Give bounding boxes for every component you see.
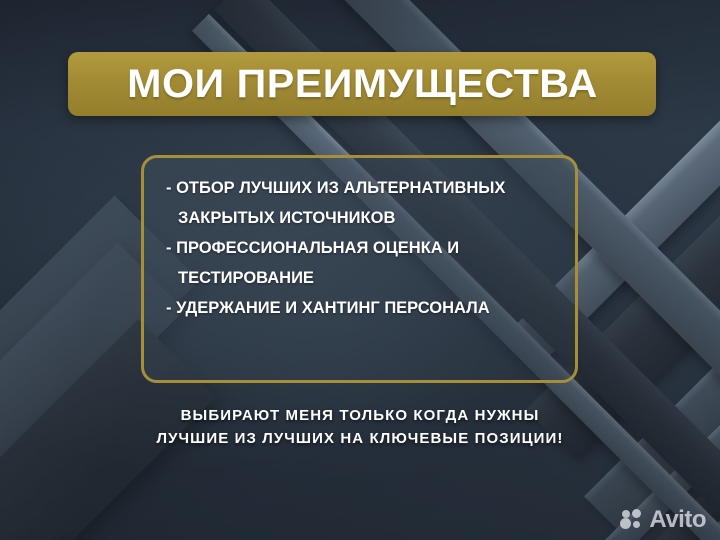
list-item: - ПРОФЕССИОНАЛЬНАЯ ОЦЕНКА И ТЕСТИРОВАНИЕ [166, 240, 557, 286]
tagline: ВЫБИРАЮТ МЕНЯ ТОЛЬКО КОГДА НУЖНЫ ЛУЧШИЕ … [0, 404, 720, 451]
list-item-line1: - ПРОФЕССИОНАЛЬНАЯ ОЦЕНКА И [166, 239, 459, 257]
tagline-line2: ЛУЧШИЕ ИЗ ЛУЧШИХ НА КЛЮЧЕВЫЕ ПОЗИЦИИ! [0, 427, 720, 450]
list-item: - ОТБОР ЛУЧШИХ ИЗ АЛЬТЕРНАТИВНЫХ ЗАКРЫТЫ… [166, 180, 557, 226]
list-item-line2: ЗАКРЫТЫХ ИСТОЧНИКОВ [166, 210, 557, 227]
advantages-list: - ОТБОР ЛУЧШИХ ИЗ АЛЬТЕРНАТИВНЫХ ЗАКРЫТЫ… [166, 180, 557, 317]
tagline-line1: ВЫБИРАЮТ МЕНЯ ТОЛЬКО КОГДА НУЖНЫ [0, 404, 720, 427]
avito-wordmark: Avito [649, 508, 706, 532]
list-item-line1: - УДЕРЖАНИЕ И ХАНТИНГ ПЕРСОНАЛА [166, 299, 490, 317]
list-item-line2: ТЕСТИРОВАНИЕ [166, 270, 557, 287]
poster-canvas: МОИ ПРЕИМУЩЕСТВА - ОТБОР ЛУЧШИХ ИЗ АЛЬТЕ… [0, 0, 720, 540]
title-banner: МОИ ПРЕИМУЩЕСТВА [68, 52, 656, 116]
avito-watermark: Avito [620, 508, 706, 532]
page-title: МОИ ПРЕИМУЩЕСТВА [127, 64, 598, 104]
list-item: - УДЕРЖАНИЕ И ХАНТИНГ ПЕРСОНАЛА [166, 300, 557, 317]
avito-dots-icon [620, 509, 644, 531]
advantages-box: - ОТБОР ЛУЧШИХ ИЗ АЛЬТЕРНАТИВНЫХ ЗАКРЫТЫ… [141, 155, 578, 383]
list-item-line1: - ОТБОР ЛУЧШИХ ИЗ АЛЬТЕРНАТИВНЫХ [166, 179, 505, 197]
